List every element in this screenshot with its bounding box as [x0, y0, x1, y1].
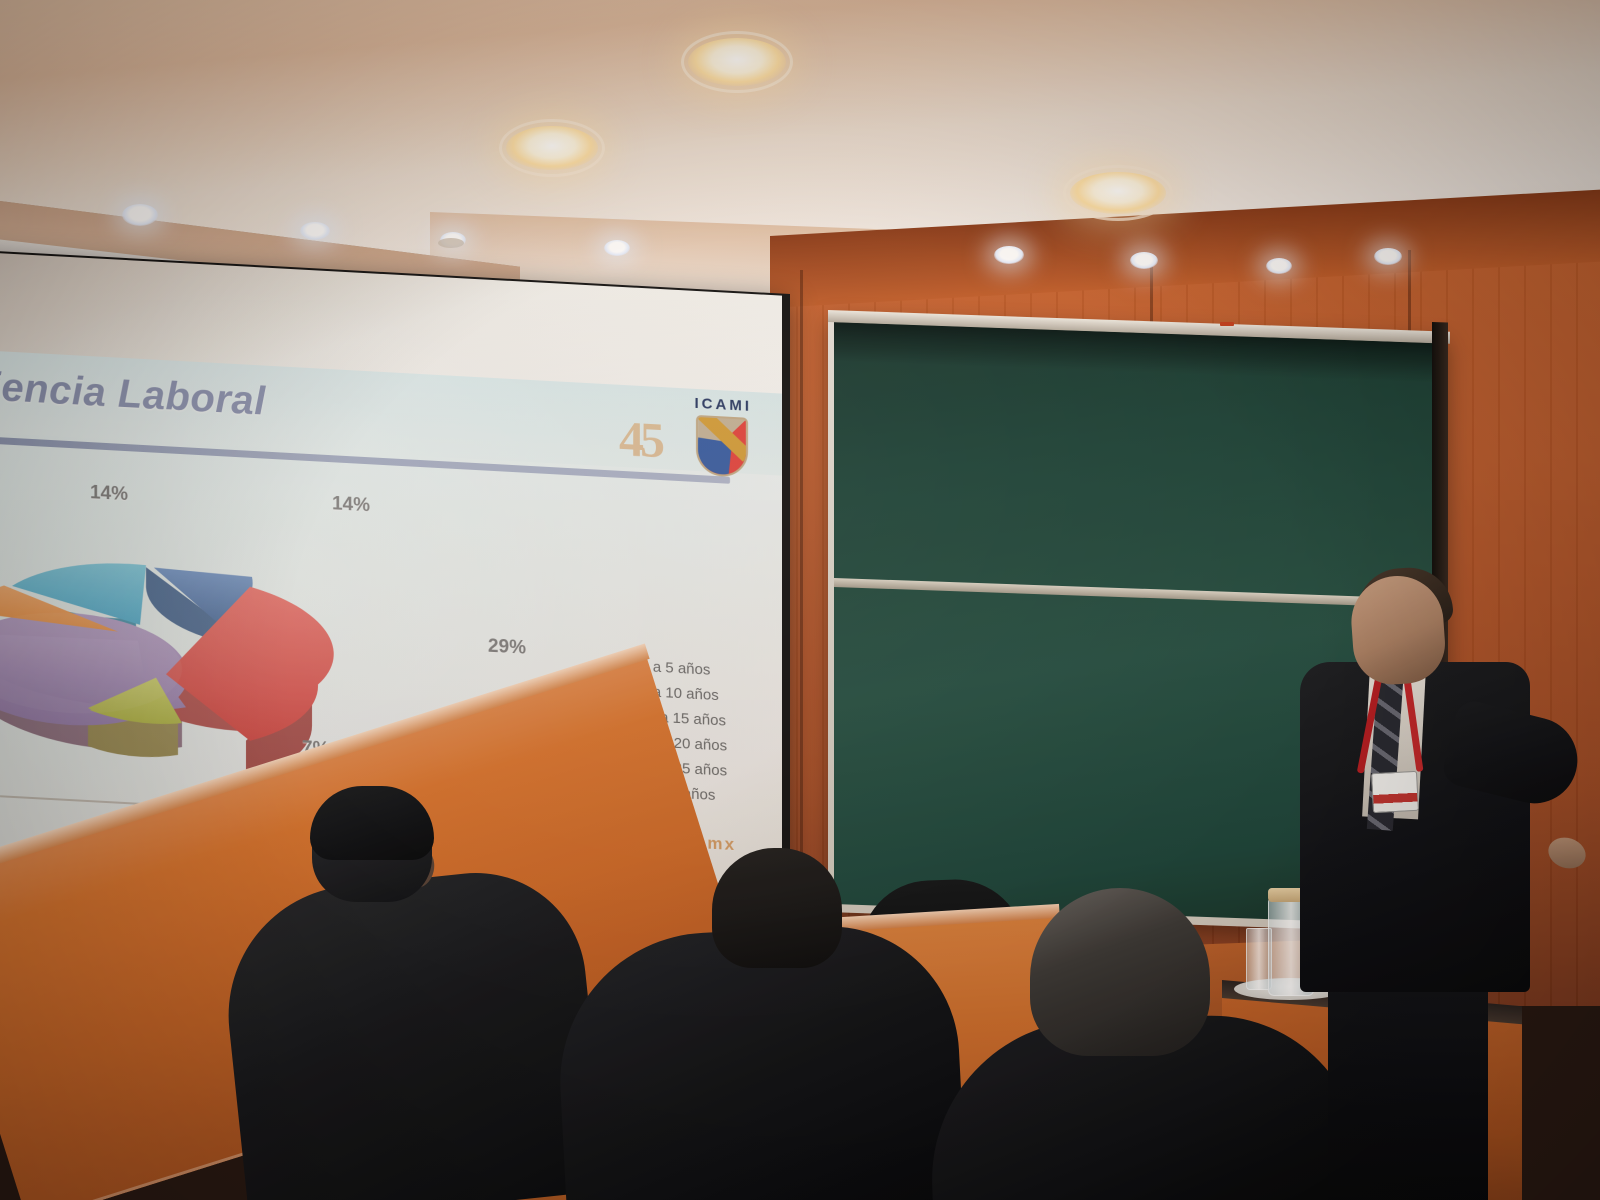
audience-member-2-head — [712, 848, 842, 968]
ceiling-downlight — [506, 126, 598, 170]
lecture-room-photo: periencia Laboral ICAMI 45 — [0, 0, 1600, 1200]
smoke-detector — [438, 238, 464, 248]
pie-label-blue: 14% — [332, 493, 370, 517]
ceiling-spotlight — [1266, 258, 1292, 274]
pie-label-red: 29% — [488, 636, 526, 660]
wood-seam — [800, 270, 803, 930]
logo-brand-text: ICAMI — [695, 395, 753, 415]
shield-icon — [696, 415, 748, 478]
ceiling-spotlight — [994, 246, 1024, 264]
ceiling-spotlight — [300, 222, 330, 240]
ceiling-spotlight — [1130, 252, 1158, 269]
ceiling-downlight — [688, 38, 786, 86]
chalk-piece — [1220, 322, 1234, 326]
ceiling-spotlight — [122, 204, 158, 226]
ceiling-downlight — [1070, 172, 1166, 214]
ceiling-spotlight — [1374, 248, 1402, 265]
logo-anniversary-text: 45 — [619, 409, 661, 469]
ceiling-spotlight — [604, 240, 630, 256]
icami-logo: ICAMI 45 — [619, 391, 754, 484]
audience-member-3-head — [1030, 888, 1210, 1056]
presenter-legs — [1328, 966, 1488, 1200]
pie-label-cyan: 14% — [90, 482, 128, 506]
presenter-name-badge — [1371, 771, 1419, 813]
